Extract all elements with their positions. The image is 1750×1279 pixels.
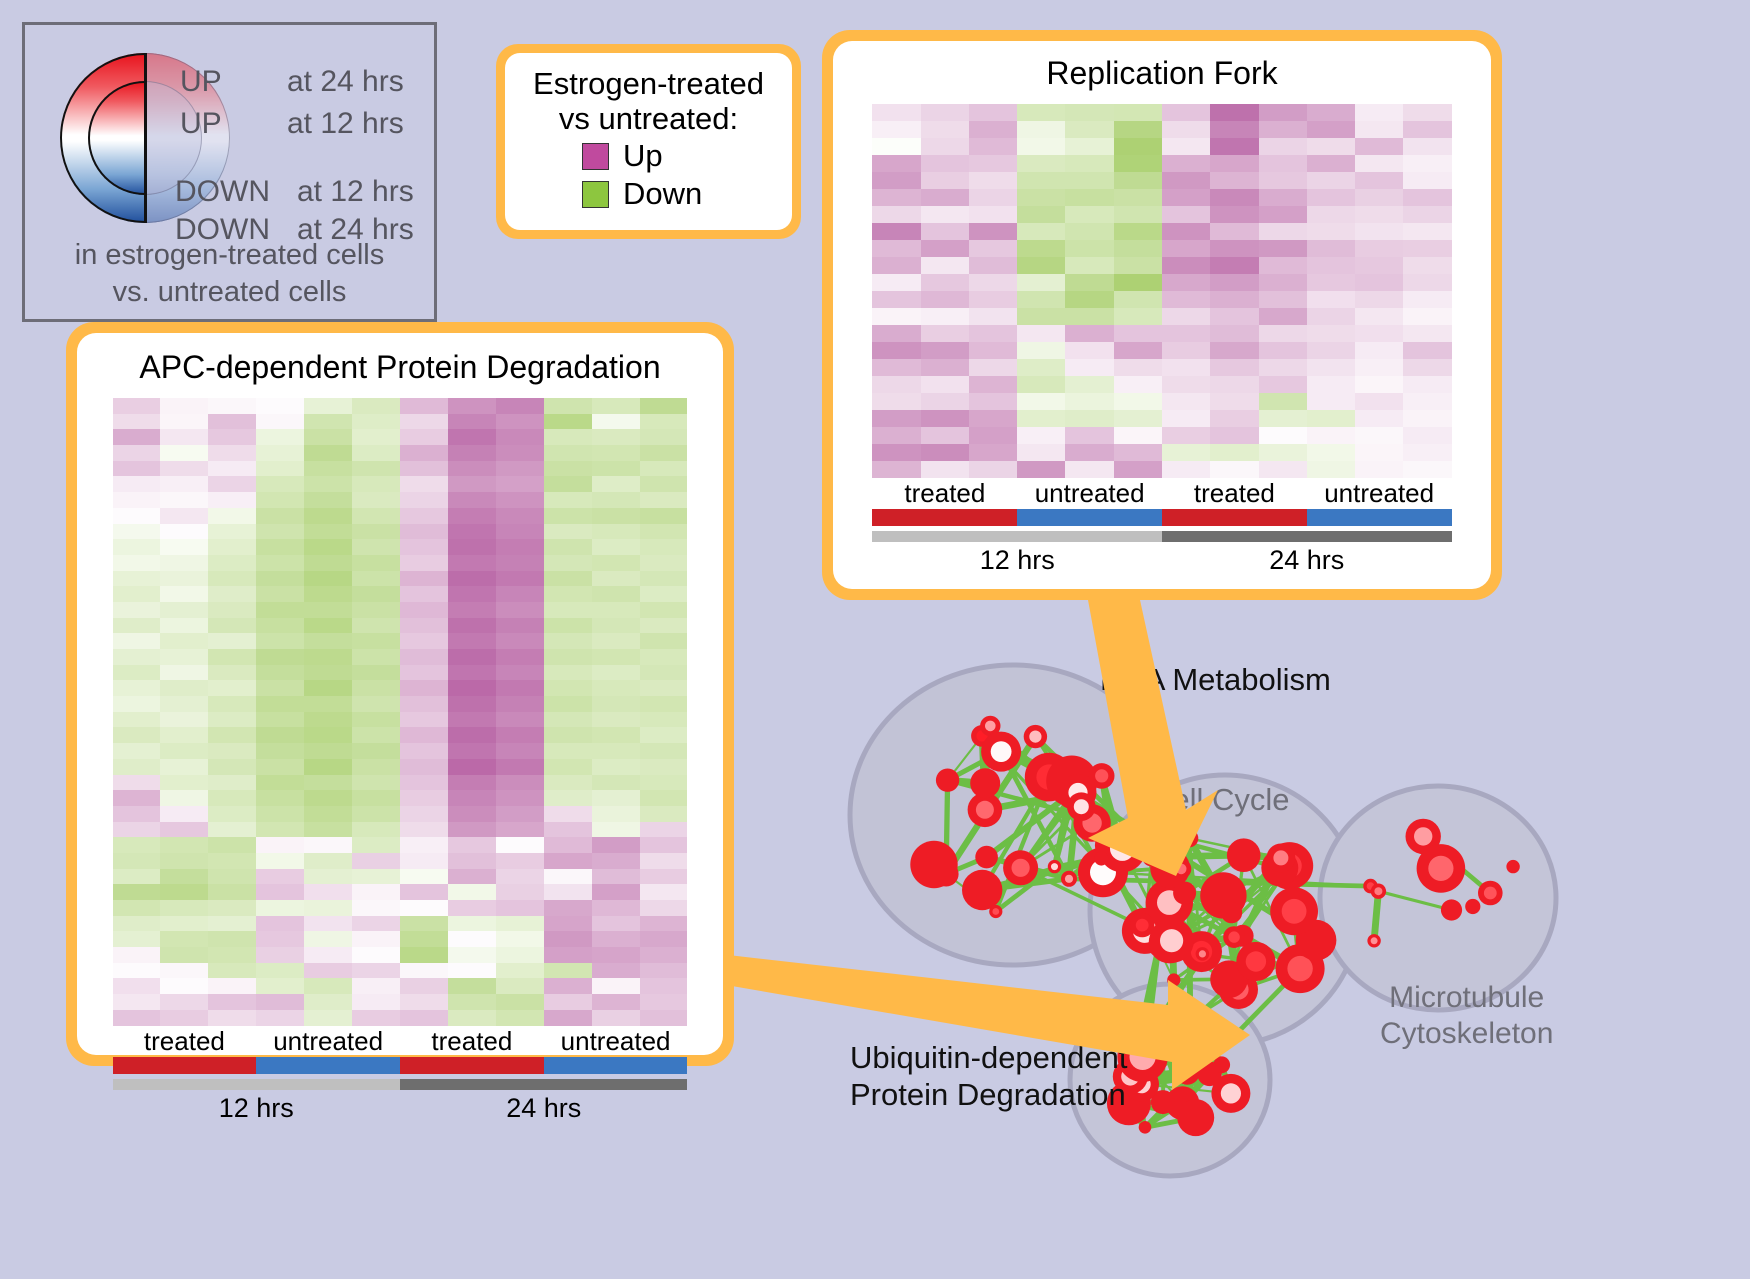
network-node[interactable] xyxy=(1149,918,1194,963)
colorwheel-time-1: at 12 hrs xyxy=(287,107,404,141)
heatmap-cell xyxy=(448,790,496,806)
heatmap-cell xyxy=(352,931,400,947)
heatmap-cell xyxy=(352,398,400,414)
heatmap-cell xyxy=(304,947,352,963)
network-node[interactable] xyxy=(1196,947,1210,961)
heatmap-cell xyxy=(496,712,544,728)
heatmap-cell xyxy=(160,775,208,791)
heatmap-cell xyxy=(160,822,208,838)
panel-apc-degradation: APC-dependent Protein Degradation treate… xyxy=(66,322,734,1066)
heatmap-cell xyxy=(160,727,208,743)
heatmap-cell xyxy=(208,429,256,445)
heatmap-cell xyxy=(1307,104,1355,121)
heatmap-cell xyxy=(1017,461,1065,478)
heatmap-cell xyxy=(448,884,496,900)
heatmap-cell xyxy=(208,586,256,602)
heatmap-cell xyxy=(1210,291,1258,308)
heatmap-cell xyxy=(872,206,920,223)
network-node[interactable] xyxy=(1367,934,1380,947)
heatmap-cell xyxy=(256,712,304,728)
group-label-treated-2: treated xyxy=(1162,478,1307,509)
heatmap-cell xyxy=(921,308,969,325)
heatmap-cell xyxy=(352,712,400,728)
heatmap-cell xyxy=(448,414,496,430)
heatmap-cell xyxy=(256,994,304,1010)
heatmap-cell xyxy=(160,633,208,649)
heatmap-cell xyxy=(872,410,920,427)
heatmap-cell xyxy=(969,393,1017,410)
heatmap-cell xyxy=(592,900,640,916)
network-node[interactable] xyxy=(1139,1121,1152,1134)
time-label-12-hrs: 12 hrs xyxy=(872,545,1162,576)
heatmap-cell xyxy=(304,837,352,853)
heatmap-cell xyxy=(1210,189,1258,206)
heatmap-cell xyxy=(160,712,208,728)
heatmap-cell xyxy=(1259,325,1307,342)
heatmap-cell xyxy=(160,398,208,414)
network-node[interactable] xyxy=(981,732,1021,772)
heatmap-cell xyxy=(544,649,592,665)
heatmap-cell xyxy=(448,524,496,540)
heatmap-cell xyxy=(1403,342,1451,359)
heatmap-cell xyxy=(1307,189,1355,206)
heatmap-cell xyxy=(592,916,640,932)
heatmap-cell xyxy=(1114,359,1162,376)
heatmap-cell xyxy=(544,618,592,634)
heatmap-cell xyxy=(592,476,640,492)
network-node[interactable] xyxy=(910,841,957,888)
heatmap-cell xyxy=(113,947,161,963)
heatmap-cell xyxy=(1017,376,1065,393)
network-node[interactable] xyxy=(1371,884,1386,899)
heatmap-cell xyxy=(592,775,640,791)
network-node-core xyxy=(1199,950,1206,957)
heatmap-cell xyxy=(208,837,256,853)
heatmap-cell xyxy=(1259,393,1307,410)
heatmap-cell xyxy=(448,602,496,618)
heatmap-cell xyxy=(208,884,256,900)
heatmap-cell xyxy=(1307,138,1355,155)
network-node[interactable] xyxy=(1211,1074,1250,1113)
heatmap-cell xyxy=(640,633,688,649)
network-node-core xyxy=(1371,937,1378,944)
heatmap-cell xyxy=(1065,427,1113,444)
network-node[interactable] xyxy=(1213,1056,1230,1073)
heatmap-cell xyxy=(1017,308,1065,325)
network-node[interactable] xyxy=(989,905,1002,918)
network-node-core xyxy=(1051,863,1058,870)
heatmap-cell xyxy=(208,649,256,665)
heatmap-cell xyxy=(1210,104,1258,121)
network-node[interactable] xyxy=(1142,847,1161,866)
heatmap-cell xyxy=(208,618,256,634)
network-node[interactable] xyxy=(1170,1025,1211,1066)
heatmap-cell xyxy=(208,947,256,963)
heatmap-cell xyxy=(256,696,304,712)
network-node[interactable] xyxy=(962,870,1002,910)
network-node[interactable] xyxy=(970,768,1000,798)
heatmap-cell xyxy=(592,398,640,414)
heatmap-cell xyxy=(448,429,496,445)
heatmap-cell xyxy=(160,414,208,430)
heatmap-cell xyxy=(1403,461,1451,478)
heatmap-cell xyxy=(1355,359,1403,376)
heatmap-cell xyxy=(1259,342,1307,359)
heatmap-cell xyxy=(1114,325,1162,342)
heatmap-cell xyxy=(921,240,969,257)
heatmap-cell xyxy=(1065,138,1113,155)
heatmap-cell xyxy=(1307,325,1355,342)
heatmap-cell xyxy=(544,445,592,461)
heatmap-cell xyxy=(304,665,352,681)
heatmap-cell xyxy=(352,790,400,806)
heatmap-cell xyxy=(304,414,352,430)
network-node[interactable] xyxy=(1048,860,1061,873)
heatmap-cell xyxy=(1403,393,1451,410)
network-node[interactable] xyxy=(1171,859,1191,879)
heatmap-cell xyxy=(496,680,544,696)
heatmap-cell xyxy=(113,822,161,838)
heatmap-cell xyxy=(304,586,352,602)
heatmap-cell xyxy=(160,759,208,775)
heatmap-cell xyxy=(400,994,448,1010)
network-node[interactable] xyxy=(1061,871,1077,887)
heatmap-cell xyxy=(640,539,688,555)
heatmap-cell xyxy=(304,806,352,822)
heatmap-cell xyxy=(1065,325,1113,342)
heatmap-cell xyxy=(1162,138,1210,155)
heatmap-cell xyxy=(448,665,496,681)
network-node[interactable] xyxy=(1270,887,1318,935)
heatmap-cell xyxy=(1355,393,1403,410)
heatmap-cell xyxy=(1355,291,1403,308)
heatmap-cell xyxy=(208,900,256,916)
heatmap-cell xyxy=(544,759,592,775)
heatmap-cell xyxy=(1162,325,1210,342)
heatmap-cell xyxy=(1403,325,1451,342)
heatmap-cell xyxy=(1210,240,1258,257)
heatmap-cell xyxy=(640,461,688,477)
heatmap-cell xyxy=(496,602,544,618)
heatmap-cell xyxy=(544,978,592,994)
up-color-swatch xyxy=(582,143,609,170)
heatmap-cell xyxy=(544,492,592,508)
heatmap-cell xyxy=(1307,461,1355,478)
heatmap-cell xyxy=(544,884,592,900)
network-node[interactable] xyxy=(1003,850,1038,885)
heatmap-cell xyxy=(1114,461,1162,478)
heatmap-cell xyxy=(256,445,304,461)
heatmap-cell xyxy=(1307,172,1355,189)
heatmap-cell xyxy=(1162,206,1210,223)
heatmap-cell xyxy=(544,994,592,1010)
heatmap-cell xyxy=(1114,308,1162,325)
heatmap-cell xyxy=(496,476,544,492)
network-node[interactable] xyxy=(1173,882,1196,905)
heatmap-cell xyxy=(1065,121,1113,138)
network-node-core xyxy=(1095,769,1108,782)
heatmap-cell xyxy=(1017,172,1065,189)
heatmap-cell xyxy=(304,978,352,994)
heatmap-cell xyxy=(1355,189,1403,206)
heatmap-cell xyxy=(1403,206,1451,223)
heatmap-cell xyxy=(160,586,208,602)
heatmap-cell xyxy=(872,325,920,342)
heatmap-cell xyxy=(1355,274,1403,291)
heatmap-cell xyxy=(592,602,640,618)
heatmap-cell xyxy=(400,806,448,822)
network-node[interactable] xyxy=(1167,973,1180,986)
heatmap-cell xyxy=(448,712,496,728)
heatmap-cell xyxy=(400,492,448,508)
group-label-treated-0: treated xyxy=(113,1026,257,1057)
heatmap-cell xyxy=(1355,461,1403,478)
heatmap-cell xyxy=(448,680,496,696)
heatmap-cell xyxy=(544,837,592,853)
heatmap-cell xyxy=(1403,359,1451,376)
heatmap-cell xyxy=(448,775,496,791)
heatmap-cell xyxy=(400,680,448,696)
axis-apc: treateduntreatedtreateduntreated 12 hrs2… xyxy=(113,1026,688,1124)
heatmap-cell xyxy=(160,539,208,555)
heatmap-cell xyxy=(352,1010,400,1026)
heatmap-cell xyxy=(304,524,352,540)
heatmap-cell xyxy=(352,900,400,916)
heatmap-cell xyxy=(640,649,688,665)
network-node[interactable] xyxy=(1465,899,1480,914)
heatmap-cell xyxy=(640,414,688,430)
heatmap-cell xyxy=(640,916,688,932)
heatmap-cell xyxy=(160,555,208,571)
heatmap-cell xyxy=(1162,444,1210,461)
heatmap-cell xyxy=(496,947,544,963)
heatmap-cell xyxy=(1065,257,1113,274)
figure-canvas: UP at 24 hrs UP at 12 hrs DOWN at 12 hrs… xyxy=(0,0,1750,1279)
heatmap-cell xyxy=(592,947,640,963)
heatmap-cell xyxy=(400,445,448,461)
heatmap-cell xyxy=(113,414,161,430)
heatmap-cell xyxy=(496,445,544,461)
time-label-24-hrs: 24 hrs xyxy=(400,1093,687,1124)
heatmap-cell xyxy=(544,633,592,649)
heatmap-cell xyxy=(496,461,544,477)
network-node[interactable] xyxy=(1506,860,1519,873)
colorwheel-dir-2: DOWN xyxy=(175,175,270,209)
heatmap-cell xyxy=(496,555,544,571)
heatmap-cell xyxy=(592,790,640,806)
heatmap-cell xyxy=(400,649,448,665)
heatmap-cell xyxy=(160,680,208,696)
heatmap-cell xyxy=(160,602,208,618)
heatmap-cell xyxy=(400,743,448,759)
heatmap-cell xyxy=(1114,410,1162,427)
heatmap-cell xyxy=(1114,291,1162,308)
heatmap-cell xyxy=(352,445,400,461)
heatmap-cell xyxy=(921,376,969,393)
network-node[interactable] xyxy=(1441,899,1462,920)
network-node[interactable] xyxy=(1478,881,1503,906)
heatmap-cell xyxy=(352,806,400,822)
heatmap-cell xyxy=(352,571,400,587)
network-node[interactable] xyxy=(1172,1008,1190,1026)
heatmap-cell xyxy=(400,665,448,681)
heatmap-cell xyxy=(208,680,256,696)
network-node[interactable] xyxy=(1089,763,1115,789)
down-color-swatch xyxy=(582,181,609,208)
heatmap-cell xyxy=(1210,138,1258,155)
heatmap-cell xyxy=(1114,155,1162,172)
heatmap-cell xyxy=(1307,427,1355,444)
heatmap-cell xyxy=(544,869,592,885)
heatmap-cell xyxy=(640,759,688,775)
heatmap-cell xyxy=(304,759,352,775)
heatmap-cell xyxy=(592,555,640,571)
heatmap-cell xyxy=(352,759,400,775)
heatmap-cell xyxy=(640,508,688,524)
heatmap-cell xyxy=(208,727,256,743)
heatmap-cell xyxy=(1162,274,1210,291)
heatmap-cell xyxy=(448,963,496,979)
heatmap-cell xyxy=(872,240,920,257)
heatmap-cell xyxy=(256,476,304,492)
updown-legend-title-line2: vs untreated: xyxy=(515,102,782,137)
network-node[interactable] xyxy=(975,846,998,869)
network-node[interactable] xyxy=(1223,926,1245,948)
heatmap-cell xyxy=(544,727,592,743)
cluster-label-microtubule-line2: Cytoskeleton xyxy=(1380,1016,1553,1052)
heatmap-cell xyxy=(640,978,688,994)
network-node[interactable] xyxy=(1180,829,1198,847)
heatmap-cell xyxy=(544,429,592,445)
heatmap-cell xyxy=(448,853,496,869)
heatmap-cell xyxy=(969,410,1017,427)
network-node[interactable] xyxy=(1227,838,1261,872)
heatmap-cell xyxy=(400,414,448,430)
heatmap-cell xyxy=(256,963,304,979)
heatmap-cell xyxy=(1355,240,1403,257)
network-node[interactable] xyxy=(936,769,959,792)
heatmap-cell xyxy=(1114,138,1162,155)
network-node[interactable] xyxy=(1094,852,1108,866)
heatmap-cell xyxy=(496,429,544,445)
network-node[interactable] xyxy=(1067,792,1096,821)
heatmap-cell xyxy=(1403,308,1451,325)
heatmap-cell xyxy=(921,359,969,376)
network-node[interactable] xyxy=(1236,942,1275,981)
network-node[interactable] xyxy=(1417,844,1466,893)
heatmap-cell xyxy=(1403,155,1451,172)
heatmap-cell xyxy=(1403,104,1451,121)
network-node[interactable] xyxy=(1267,844,1296,873)
heatmap-cell xyxy=(921,342,969,359)
panel-replication-fork: Replication Fork treateduntreatedtreated… xyxy=(822,30,1502,600)
heatmap-cell xyxy=(969,376,1017,393)
heatmap-cell xyxy=(208,869,256,885)
heatmap-cell xyxy=(496,649,544,665)
network-node-core xyxy=(1130,1044,1156,1070)
heatmap-cell xyxy=(969,189,1017,206)
heatmap-cell xyxy=(921,104,969,121)
heatmap-cell xyxy=(208,508,256,524)
heatmap-cell xyxy=(160,461,208,477)
heatmap-cell xyxy=(256,743,304,759)
heatmap-cell xyxy=(160,837,208,853)
heatmap-cell xyxy=(1017,240,1065,257)
heatmap-cell xyxy=(113,602,161,618)
heatmap-cell xyxy=(256,524,304,540)
network-node-core xyxy=(1484,887,1497,900)
heatmap-cell xyxy=(1065,359,1113,376)
heatmap-cell xyxy=(160,649,208,665)
heatmap-cell xyxy=(1065,308,1113,325)
heatmap-cell xyxy=(921,393,969,410)
heatmap-cell xyxy=(400,398,448,414)
heatmap-cell xyxy=(1307,393,1355,410)
heatmap-cell xyxy=(400,727,448,743)
network-node[interactable] xyxy=(1221,902,1242,923)
heatmap-cell xyxy=(113,476,161,492)
heatmap-cell xyxy=(592,665,640,681)
legend-key-up: Up xyxy=(515,138,782,174)
heatmap-cell xyxy=(872,274,920,291)
heatmap-cell xyxy=(592,978,640,994)
heatmap-cell xyxy=(1307,359,1355,376)
network-node[interactable] xyxy=(1024,725,1047,748)
heatmap-cell xyxy=(1162,376,1210,393)
heatmap-cell xyxy=(1162,461,1210,478)
heatmap-cell xyxy=(640,586,688,602)
heatmap-cell xyxy=(1259,223,1307,240)
heatmap-cell xyxy=(304,633,352,649)
heatmap-cell xyxy=(969,427,1017,444)
heatmap-cell xyxy=(1017,410,1065,427)
time-label-12-hrs: 12 hrs xyxy=(113,1093,400,1124)
heatmap-cell xyxy=(208,806,256,822)
heatmap-cell xyxy=(1017,223,1065,240)
heatmap-cell xyxy=(640,398,688,414)
heatmap-cell xyxy=(1114,104,1162,121)
heatmap-cell xyxy=(872,444,920,461)
heatmap-cell xyxy=(208,822,256,838)
heatmap-cell xyxy=(208,398,256,414)
heatmap-cell xyxy=(921,121,969,138)
heatmap-cell xyxy=(544,602,592,618)
heatmap-cell xyxy=(304,539,352,555)
network-node-core xyxy=(1282,899,1307,924)
heatmap-cell xyxy=(113,806,161,822)
heatmap-cell xyxy=(400,837,448,853)
heatmap-cell xyxy=(160,665,208,681)
heatmap-cell xyxy=(1210,342,1258,359)
heatmap-cell xyxy=(208,759,256,775)
heatmap-cell xyxy=(256,775,304,791)
heatmap-cell xyxy=(208,461,256,477)
heatmap-cell xyxy=(1017,257,1065,274)
heatmap-cell xyxy=(1307,342,1355,359)
heatmap-cell xyxy=(1403,240,1451,257)
heatmap-cell xyxy=(1355,308,1403,325)
time-labels-replication-fork: 12 hrs24 hrs xyxy=(872,542,1451,576)
heatmap-cell xyxy=(1259,427,1307,444)
heatmap-cell xyxy=(640,963,688,979)
heatmap-cell xyxy=(544,806,592,822)
network-node[interactable] xyxy=(1177,1099,1214,1136)
heatmap-cell xyxy=(352,775,400,791)
heatmap-cell xyxy=(1162,121,1210,138)
heatmap-cell xyxy=(969,172,1017,189)
heatmap-cell xyxy=(496,916,544,932)
heatmap-cell xyxy=(400,759,448,775)
